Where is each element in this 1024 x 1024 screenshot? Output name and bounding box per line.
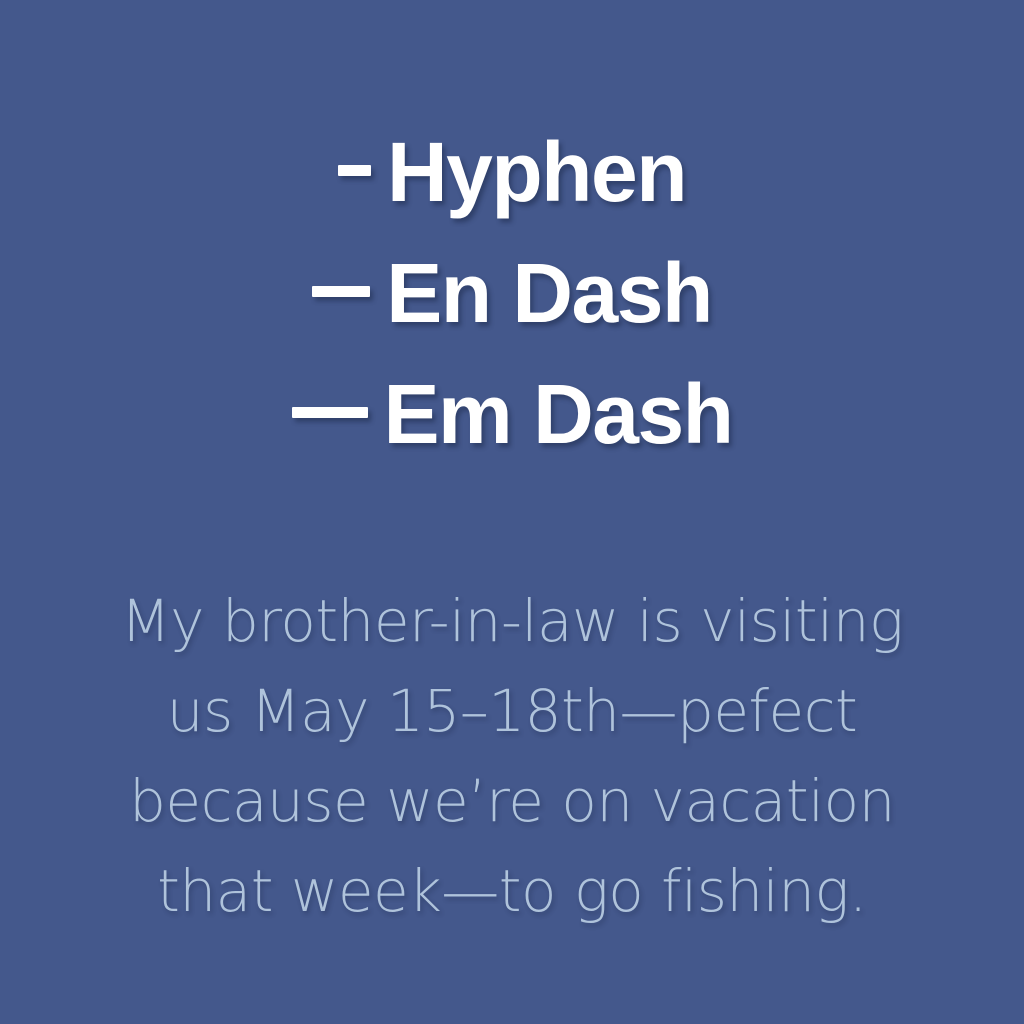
body-line-3: because we’re on vacation [0, 756, 1024, 846]
body-line-4: that week—to go fishing. [0, 846, 1024, 936]
dash-legend-heading-group: Hyphen En Dash Em Dash [0, 112, 1024, 475]
body-line-2: us May 15–18th—pefect [0, 666, 1024, 756]
heading-label-em-dash: Em Dash [384, 367, 733, 461]
heading-line-hyphen: Hyphen [0, 112, 1024, 233]
heading-line-en-dash: En Dash [0, 233, 1024, 354]
example-sentence-paragraph: My brother-in-law is visiting us May 15–… [0, 576, 1024, 936]
hyphen-dash-glyph [338, 165, 371, 176]
heading-label-hyphen: Hyphen [387, 125, 686, 219]
heading-label-en-dash: En Dash [386, 246, 712, 340]
slide-canvas: Hyphen En Dash Em Dash My brother-in-law… [0, 0, 1024, 1024]
heading-line-em-dash: Em Dash [0, 354, 1024, 475]
body-line-1: My brother-in-law is visiting [0, 576, 1024, 666]
em-dash-glyph [292, 407, 368, 418]
en-dash-glyph [312, 286, 370, 297]
